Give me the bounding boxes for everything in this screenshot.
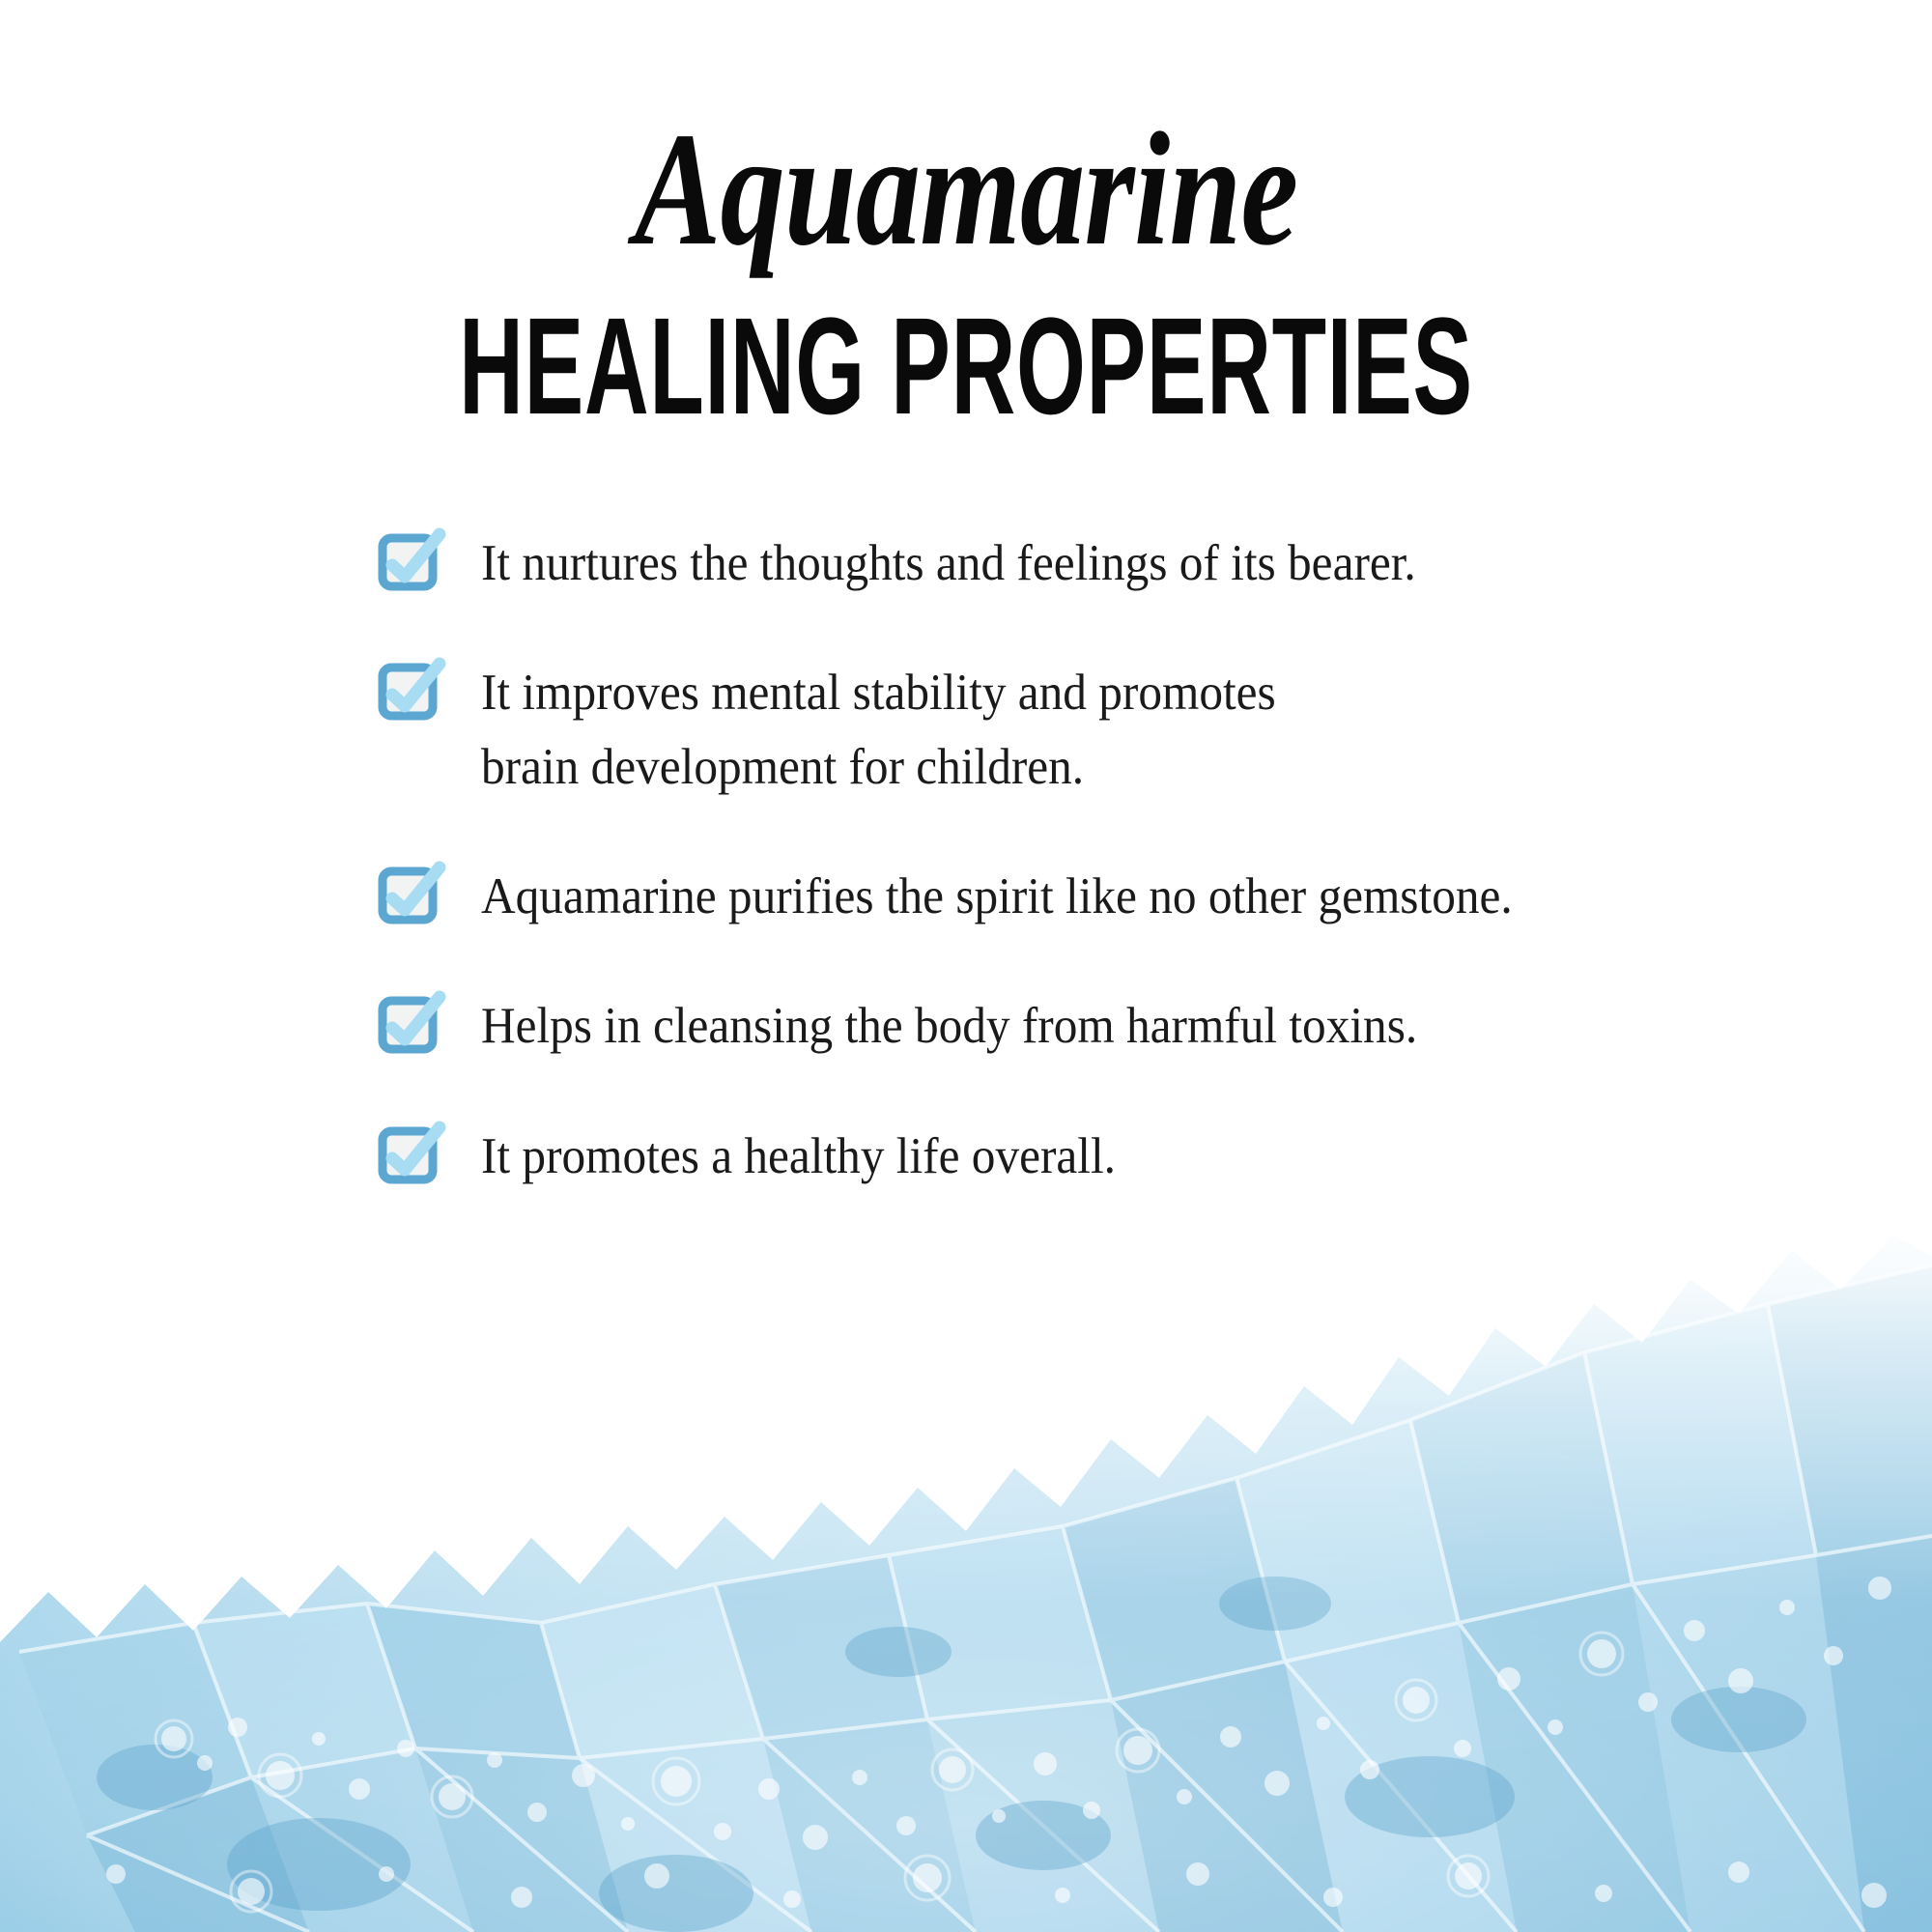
checkbox-checked-icon	[379, 1125, 442, 1185]
checkbox-checked-icon	[379, 662, 442, 722]
list-item: Aquamarine purifies the spirit like no o…	[379, 860, 1828, 933]
list-item-label: Helps in cleansing the body from harmful…	[481, 989, 1417, 1063]
list-item-label: It nurtures the thoughts and feelings of…	[481, 526, 1416, 600]
page-title: Aquamarine	[193, 0, 1739, 270]
healing-properties-list: It nurtures the thoughts and feelings of…	[379, 526, 1828, 1193]
ice-cubes-photo	[0, 1198, 1932, 1932]
list-item: It nurtures the thoughts and feelings of…	[379, 526, 1828, 600]
checkbox-checked-icon	[379, 532, 442, 592]
list-item: Helps in cleansing the body from harmful…	[379, 989, 1828, 1063]
checkbox-checked-icon	[379, 866, 442, 925]
list-item-label: It improves mental stability and promote…	[481, 656, 1276, 804]
list-item: It improves mental stability and promote…	[379, 656, 1828, 804]
poster-header: Aquamarine HEALING PROPERTIES	[0, 0, 1932, 423]
page-subtitle: HEALING PROPERTIES	[290, 270, 1642, 436]
list-item-label: Aquamarine purifies the spirit like no o…	[481, 860, 1513, 933]
list-item: It promotes a healthy life overall.	[379, 1120, 1828, 1193]
list-item-label: It promotes a healthy life overall.	[481, 1120, 1116, 1193]
poster-canvas: Aquamarine HEALING PROPERTIES It nurture…	[0, 0, 1932, 1932]
checkbox-checked-icon	[379, 995, 442, 1055]
